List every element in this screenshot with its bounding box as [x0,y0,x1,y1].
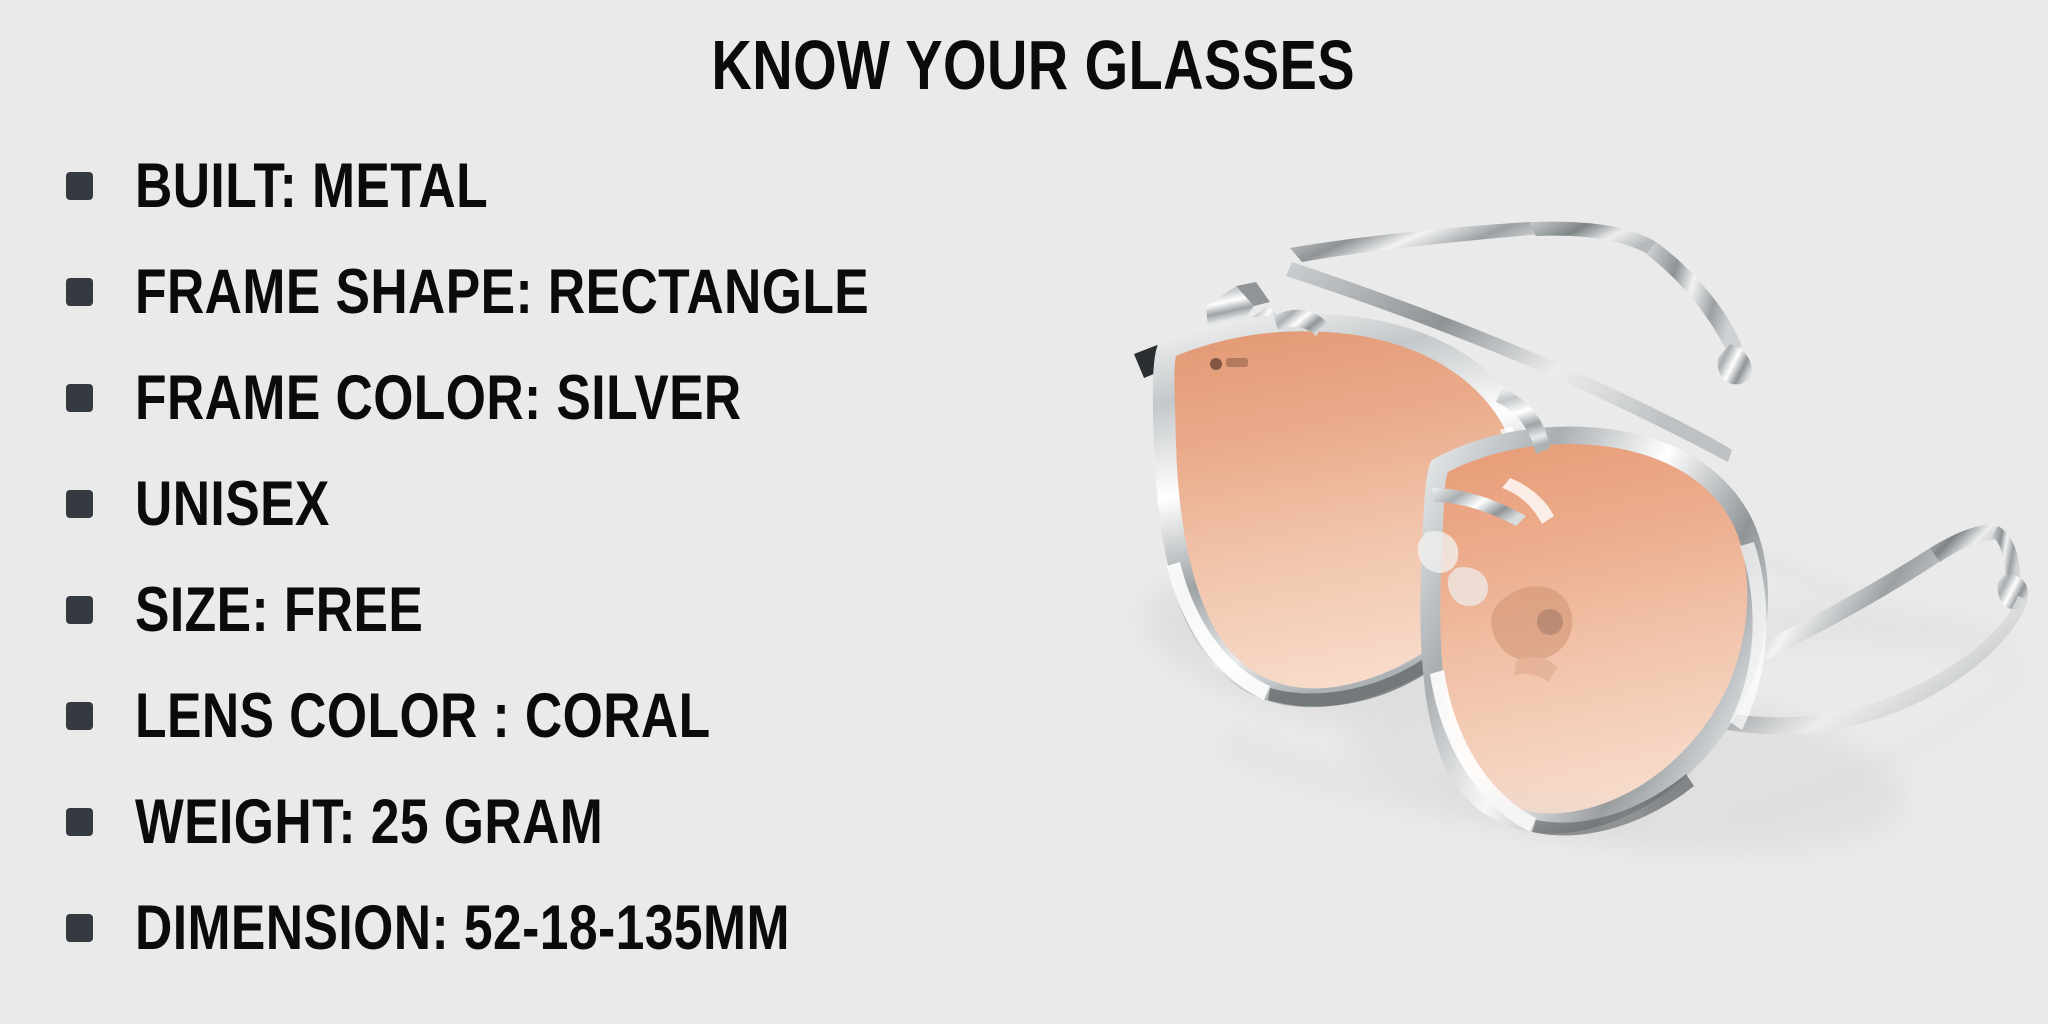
square-bullet-icon [66,172,93,200]
spec-label: UNISEX [135,473,330,536]
page-title: KNOW YOUR GLASSES [214,26,1852,104]
spec-label: BUILT: METAL [135,155,488,218]
square-bullet-icon [66,384,93,412]
spec-label: LENS COLOR : CORAL [135,685,711,748]
list-item: BUILT: METAL [0,133,1020,239]
spec-label: DIMENSION: 52-18-135MM [135,897,790,960]
sunglasses-photo [1030,130,2048,890]
square-bullet-icon [66,490,93,518]
list-item: FRAME SHAPE: RECTANGLE [0,239,1020,345]
list-item: LENS COLOR : CORAL [0,663,1020,769]
list-item: WEIGHT: 25 GRAM [0,769,1020,875]
spec-label: FRAME COLOR: SILVER [135,367,742,430]
specs-list: BUILT: METAL FRAME SHAPE: RECTANGLE FRAM… [0,133,1020,981]
list-item: FRAME COLOR: SILVER [0,345,1020,451]
square-bullet-icon [66,596,93,624]
square-bullet-icon [66,702,93,730]
list-item: SIZE: FREE [0,557,1020,663]
square-bullet-icon [66,808,93,836]
spec-label: FRAME SHAPE: RECTANGLE [135,261,869,324]
spec-label: WEIGHT: 25 GRAM [135,791,603,854]
square-bullet-icon [66,914,93,942]
sunglasses-illustration [1030,130,2048,890]
poster-canvas: KNOW YOUR GLASSES BUILT: METAL FRAME SHA… [0,0,2048,1024]
list-item: DIMENSION: 52-18-135MM [0,875,1020,981]
list-item: UNISEX [0,451,1020,557]
spec-label: SIZE: FREE [135,579,423,642]
square-bullet-icon [66,278,93,306]
